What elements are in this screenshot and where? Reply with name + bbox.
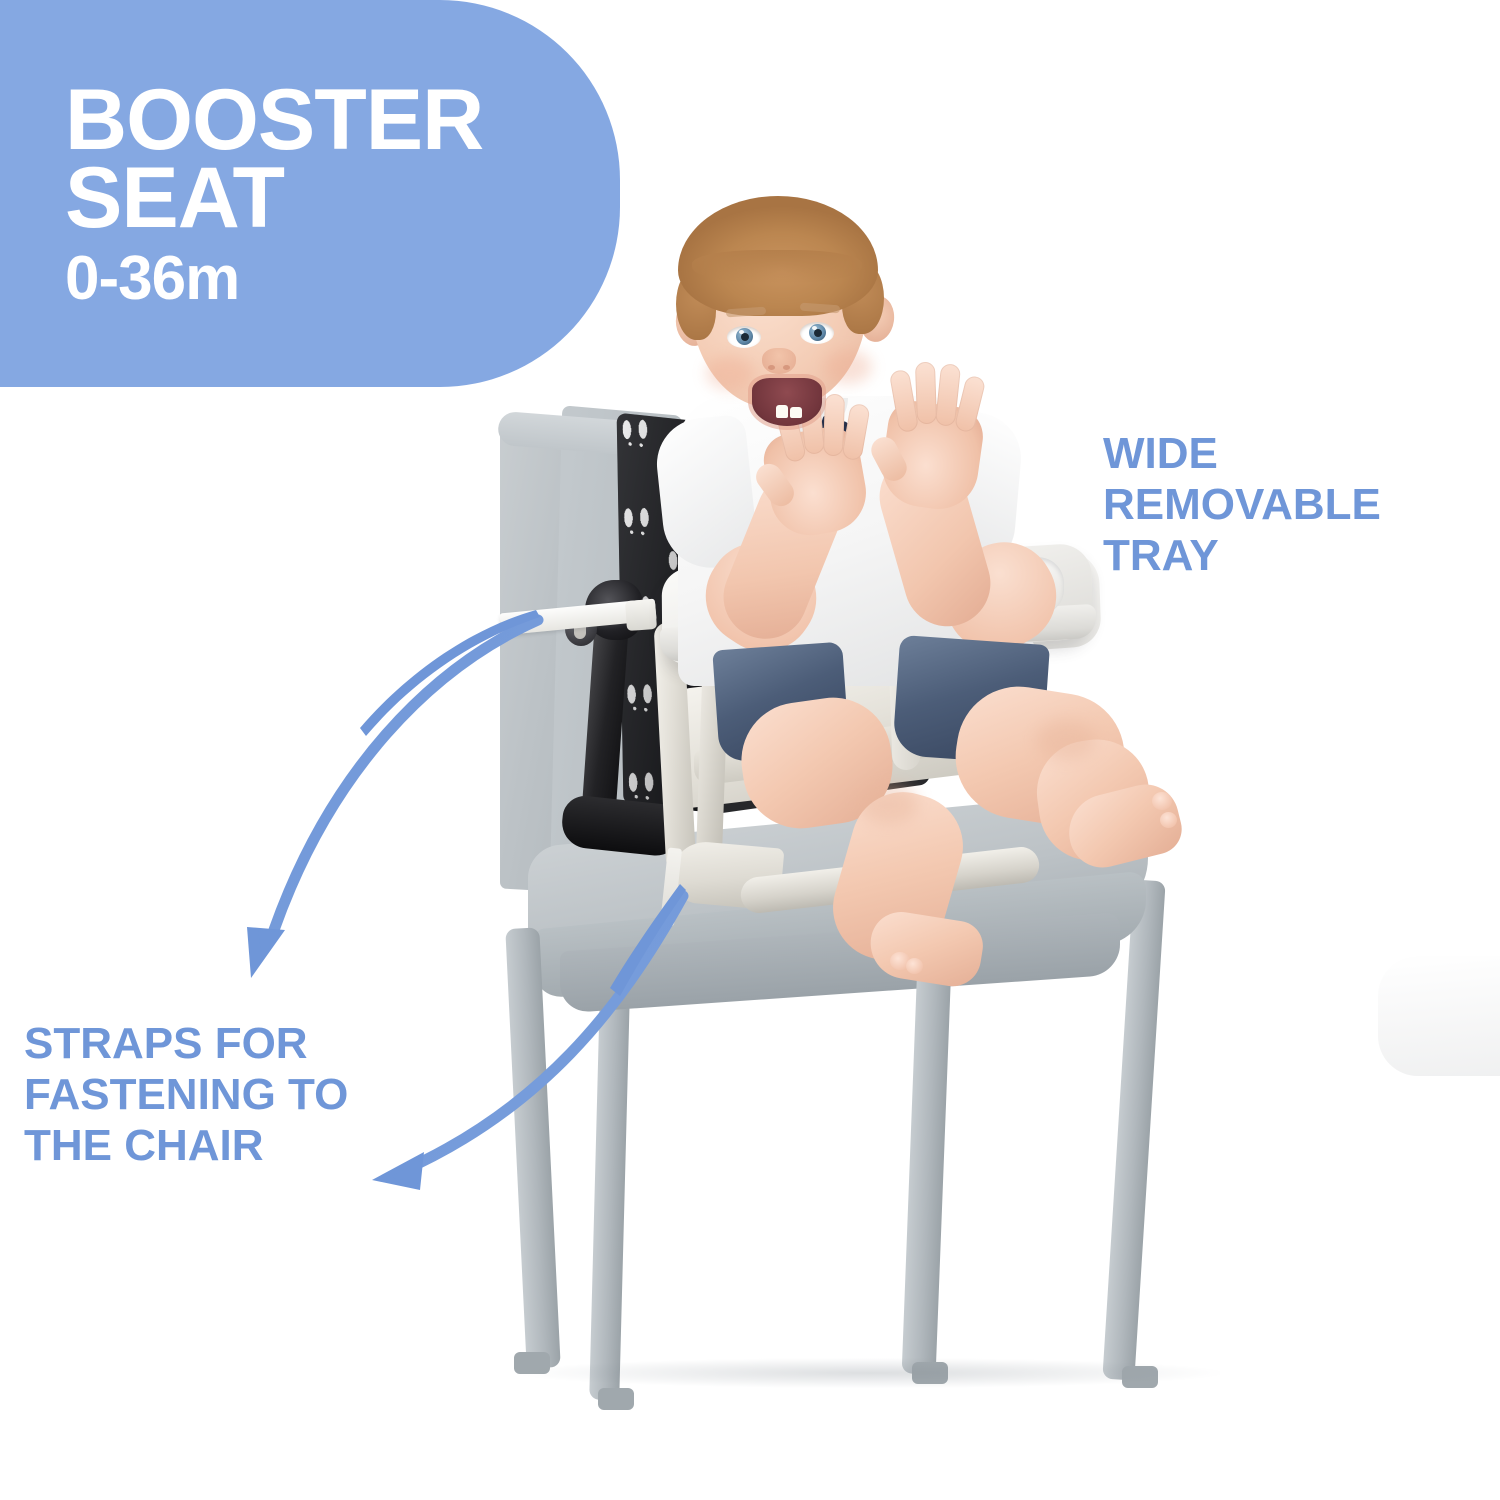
callout-right-line3: TRAY: [1103, 530, 1493, 581]
baby-toe-right-2: [1160, 812, 1177, 828]
baby-finger-right-2: [915, 362, 937, 425]
baby-eye-glint-left: [739, 330, 744, 334]
infographic-canvas: BOOSTER SEAT 0-36m WIDE REMOVABLE TRAY S…: [0, 0, 1500, 1500]
baby-pupil-left: [741, 333, 749, 341]
baby-tooth-2: [790, 407, 802, 418]
baby-nostril-right: [783, 365, 790, 370]
baby-knee-shade-left: [858, 784, 918, 824]
callout-left-line1: STRAPS FOR: [24, 1018, 454, 1069]
baby-eye-glint-right: [812, 326, 817, 330]
baby-hair-fringe: [692, 250, 862, 284]
baby-foot-left: [866, 908, 987, 991]
baby-finger-left-3: [823, 394, 845, 457]
baby-eye-right: [800, 322, 834, 344]
callout-left-line2: FASTENING TO: [24, 1069, 454, 1120]
callout-right-line1: WIDE: [1103, 428, 1493, 479]
callout-left-line3: THE CHAIR: [24, 1120, 454, 1171]
callout-straps-for-fastening: STRAPS FOR FASTENING TO THE CHAIR: [24, 1018, 454, 1171]
booster-seat-banner: BOOSTER SEAT 0-36m: [0, 0, 620, 387]
tshirt-fold-shading: [1378, 956, 1500, 1076]
baby-knee-shade-right: [1036, 720, 1096, 760]
banner-title-line2: SEAT: [65, 162, 585, 234]
baby-cheek-left: [706, 356, 754, 390]
callout-wide-removable-tray: WIDE REMOVABLE TRAY: [1103, 428, 1493, 581]
callout-right-line2: REMOVABLE: [1103, 479, 1493, 530]
baby-nostril-left: [768, 365, 775, 370]
baby-open-mouth: [752, 378, 822, 426]
baby-pupil-right: [814, 329, 822, 337]
baby-iris-right: [809, 324, 826, 341]
banner-age-range: 0-36m: [65, 248, 585, 310]
baby-toe-left-2: [906, 958, 923, 974]
baby-tooth-1: [776, 405, 788, 418]
baby-iris-left: [736, 328, 753, 345]
baby-toe-right-1: [1152, 792, 1172, 810]
baby-eye-left: [727, 326, 761, 348]
baby-cheek-right: [824, 350, 872, 384]
banner-title-line1: BOOSTER: [65, 84, 585, 156]
banner-text-block: BOOSTER SEAT 0-36m: [65, 84, 585, 310]
baby-nose: [762, 348, 796, 374]
